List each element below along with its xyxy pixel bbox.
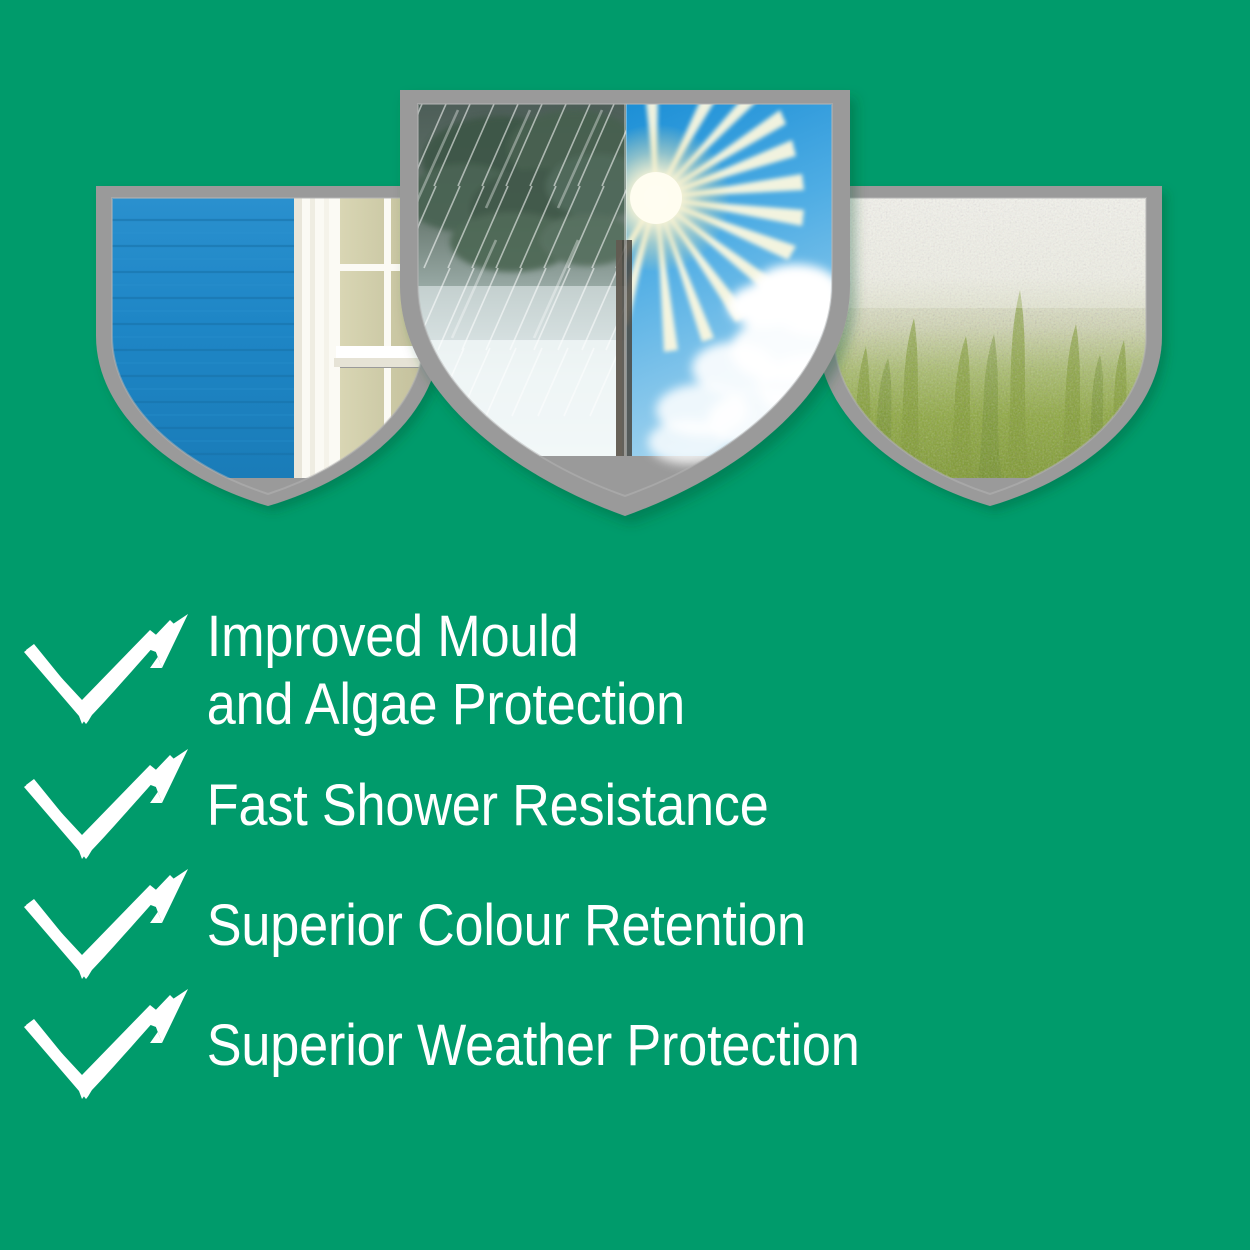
benefit-label: Improved Mould and Algae Protection	[205, 603, 685, 740]
check-arrow-icon	[22, 867, 192, 985]
check-arrow-icon-cell	[0, 867, 205, 985]
shield-algae	[810, 186, 1170, 506]
check-arrow-icon	[22, 612, 192, 730]
benefit-item: Superior Colour Retention	[0, 866, 1250, 986]
benefit-label: Fast Shower Resistance	[205, 772, 769, 840]
benefit-item: Fast Shower Resistance	[0, 746, 1250, 866]
benefit-label: Superior Colour Retention	[205, 892, 806, 960]
check-arrow-icon	[22, 987, 192, 1105]
rain-scene	[386, 104, 652, 456]
shield-weather	[392, 90, 858, 510]
check-arrow-icon-cell	[0, 987, 205, 1105]
shield-banner	[0, 0, 1250, 560]
benefit-item: Improved Mould and Algae Protection	[0, 596, 1250, 746]
check-arrow-icon-cell	[0, 612, 205, 730]
check-arrow-icon-cell	[0, 747, 205, 865]
benefits-list: Improved Mould and Algae Protection Fast…	[0, 596, 1250, 1106]
benefit-item: Superior Weather Protection	[0, 986, 1250, 1106]
promo-graphic: Improved Mould and Algae Protection Fast…	[0, 0, 1250, 1250]
check-arrow-icon	[22, 747, 192, 865]
benefit-label: Superior Weather Protection	[205, 1012, 860, 1080]
